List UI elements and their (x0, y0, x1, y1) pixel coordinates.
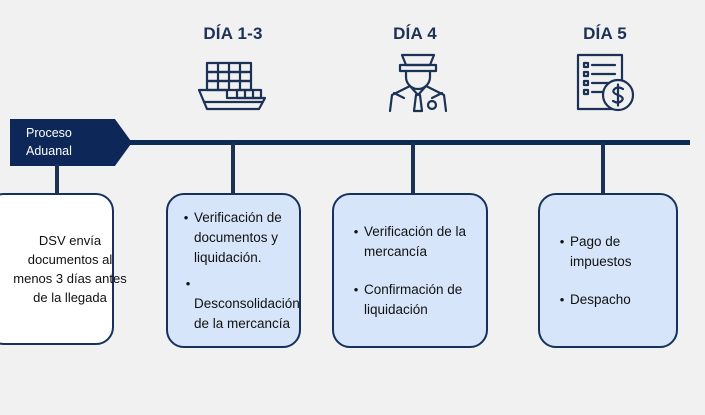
timeline-diagram: DÍA 1-3 DÍA 4 DÍA 5 (0, 0, 705, 415)
bullet-text: Despacho (570, 290, 666, 310)
connector-2 (231, 143, 235, 194)
bullet-item: • Pago de impuestos (554, 232, 666, 272)
bullet-item: • Confirmación de liquidación (348, 280, 474, 320)
process-banner-line-2: Aduanal (26, 142, 132, 160)
bullet-dot-icon: • (554, 232, 570, 252)
customs-officer-icon (378, 50, 458, 113)
invoice-dollar-icon (565, 50, 645, 113)
milestone-box-2: • Verificación de documentos y liquidaci… (166, 193, 301, 348)
bullet-dot-icon: • (180, 274, 196, 294)
milestone-box-1: DSV envía documentos al menos 3 días ant… (0, 193, 114, 345)
bullet-item: • Verificación de la mercancía (348, 222, 474, 262)
bullet-text: Confirmación de liquidación (364, 280, 474, 320)
milestone-box-1-text: DSV envía documentos al menos 3 días ant… (0, 195, 146, 343)
cargo-ship-icon (188, 55, 278, 113)
day-label-3: DÍA 5 (540, 24, 670, 44)
bullet-text: Verificación de documentos y liquidación… (194, 208, 291, 268)
bullet-text: Verificación de la mercancía (364, 222, 474, 262)
milestone-box-4: • Pago de impuestos • Despacho (538, 193, 678, 348)
bullet-dot-icon: • (348, 280, 364, 300)
bullet-item: • Despacho (554, 290, 666, 310)
connector-1 (55, 164, 59, 194)
process-banner: Proceso Aduanal (10, 119, 132, 166)
connector-4 (601, 143, 605, 194)
connector-3 (411, 143, 415, 194)
bullet-item: • Verificación de documentos y liquidaci… (178, 208, 291, 268)
bullet-text: Pago de impuestos (570, 232, 666, 272)
bullet-dot-icon: • (348, 222, 364, 242)
bullet-item: • Desconsolidación de la mercancía (178, 274, 291, 334)
bullet-dot-icon: • (178, 208, 194, 228)
milestone-box-3: • Verificación de la mercancía • Confirm… (332, 193, 488, 348)
day-label-1: DÍA 1-3 (168, 24, 298, 44)
bullet-text: Desconsolidación de la mercancía (178, 294, 300, 334)
day-label-2: DÍA 4 (350, 24, 480, 44)
process-banner-line-1: Proceso (26, 124, 132, 142)
bullet-dot-icon: • (554, 290, 570, 310)
